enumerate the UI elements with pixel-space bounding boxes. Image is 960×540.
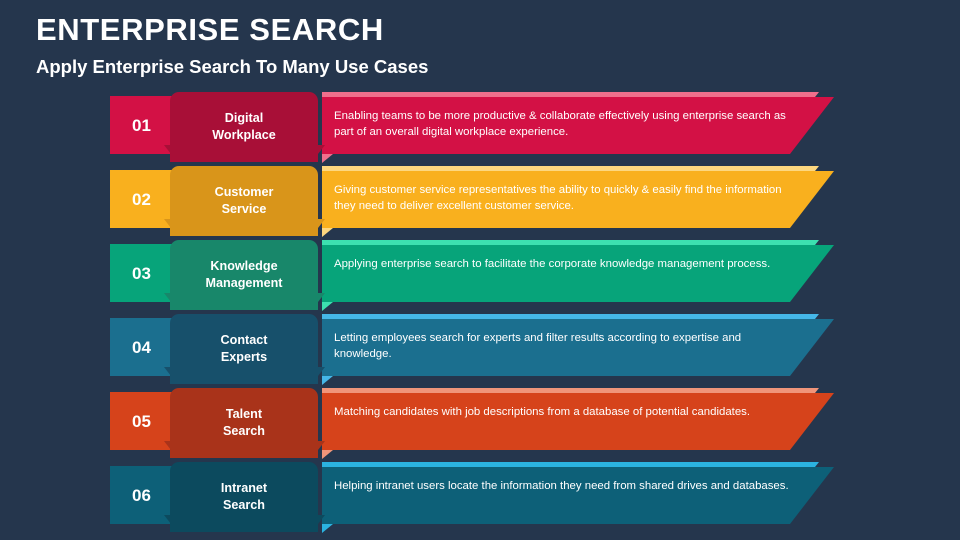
row-label: IntranetSearch [213,480,275,513]
label-notch-right-icon [318,441,325,450]
row-description-panel: Matching candidates with job description… [322,388,834,450]
label-notch-left-icon [164,515,171,524]
row-number: 04 [132,339,151,356]
slide-canvas: ENTERPRISE SEARCH Apply Enterprise Searc… [0,0,960,540]
row-label-line1: Talent [226,407,262,421]
row-accent-tip-icon [322,450,333,459]
row-description-body: Enabling teams to be more productive & c… [322,97,834,154]
row-label-line2: Management [206,276,283,290]
row-number: 02 [132,191,151,208]
label-notch-left-icon [164,219,171,228]
page-title: ENTERPRISE SEARCH [36,14,916,47]
row-label: CustomerService [207,184,282,217]
row-accent-strip [322,388,819,393]
row-accent-tip-icon [322,228,333,237]
row-label-line1: Knowledge [210,259,277,273]
row-description-text: Applying enterprise search to facilitate… [334,256,794,272]
row-number: 06 [132,487,151,504]
use-case-row[interactable]: 03KnowledgeManagementApplying enterprise… [0,240,960,302]
use-case-row[interactable]: 01DigitalWorkplaceEnabling teams to be m… [0,92,960,154]
row-accent-tip-icon [322,376,333,385]
row-label-block[interactable]: ContactExperts [170,314,318,384]
label-notch-right-icon [318,293,325,302]
row-accent-tip-icon [322,154,333,163]
row-label: ContactExperts [213,332,276,365]
row-description-panel: Applying enterprise search to facilitate… [322,240,834,302]
row-label-block[interactable]: IntranetSearch [170,462,318,532]
row-label-line2: Search [223,424,265,438]
row-label-line2: Service [222,202,267,216]
row-description-body: Applying enterprise search to facilitate… [322,245,834,302]
row-accent-strip [322,166,819,171]
label-notch-left-icon [164,441,171,450]
row-description-body: Letting employees search for experts and… [322,319,834,376]
row-label-block[interactable]: TalentSearch [170,388,318,458]
row-label-line1: Customer [215,185,274,199]
row-label: KnowledgeManagement [198,258,291,291]
row-label-line1: Intranet [221,481,267,495]
row-description-panel: Letting employees search for experts and… [322,314,834,376]
row-description-panel: Giving customer service representatives … [322,166,834,228]
use-case-list: 01DigitalWorkplaceEnabling teams to be m… [0,92,960,536]
row-label-line1: Digital [225,111,263,125]
row-description-text: Letting employees search for experts and… [334,330,794,362]
row-label-line2: Experts [221,350,267,364]
label-notch-right-icon [318,367,325,376]
label-notch-left-icon [164,145,171,154]
row-label: TalentSearch [215,406,273,439]
row-number: 05 [132,413,151,430]
row-label-block[interactable]: CustomerService [170,166,318,236]
row-label-block[interactable]: DigitalWorkplace [170,92,318,162]
row-description-body: Matching candidates with job description… [322,393,834,450]
row-description-text: Enabling teams to be more productive & c… [334,108,794,140]
row-number: 03 [132,265,151,282]
row-number: 01 [132,117,151,134]
row-description-panel: Helping intranet users locate the inform… [322,462,834,524]
row-accent-strip [322,462,819,467]
row-description-body: Helping intranet users locate the inform… [322,467,834,524]
row-accent-tip-icon [322,524,333,533]
row-accent-strip [322,314,819,319]
row-label-block[interactable]: KnowledgeManagement [170,240,318,310]
row-accent-strip [322,92,819,97]
label-notch-left-icon [164,367,171,376]
label-notch-right-icon [318,219,325,228]
row-accent-strip [322,240,819,245]
slide-header: ENTERPRISE SEARCH Apply Enterprise Searc… [36,14,916,76]
label-notch-right-icon [318,145,325,154]
row-description-panel: Enabling teams to be more productive & c… [322,92,834,154]
label-notch-left-icon [164,293,171,302]
page-subtitle: Apply Enterprise Search To Many Use Case… [36,57,916,76]
use-case-row[interactable]: 04ContactExpertsLetting employees search… [0,314,960,376]
row-label-line1: Contact [221,333,268,347]
use-case-row[interactable]: 05TalentSearchMatching candidates with j… [0,388,960,450]
row-description-text: Matching candidates with job description… [334,404,794,420]
row-label: DigitalWorkplace [204,110,283,143]
row-description-text: Helping intranet users locate the inform… [334,478,794,494]
row-label-line2: Search [223,498,265,512]
row-label-line2: Workplace [212,128,275,142]
row-description-body: Giving customer service representatives … [322,171,834,228]
use-case-row[interactable]: 02CustomerServiceGiving customer service… [0,166,960,228]
row-description-text: Giving customer service representatives … [334,182,794,214]
use-case-row[interactable]: 06IntranetSearchHelping intranet users l… [0,462,960,524]
label-notch-right-icon [318,515,325,524]
row-accent-tip-icon [322,302,333,311]
